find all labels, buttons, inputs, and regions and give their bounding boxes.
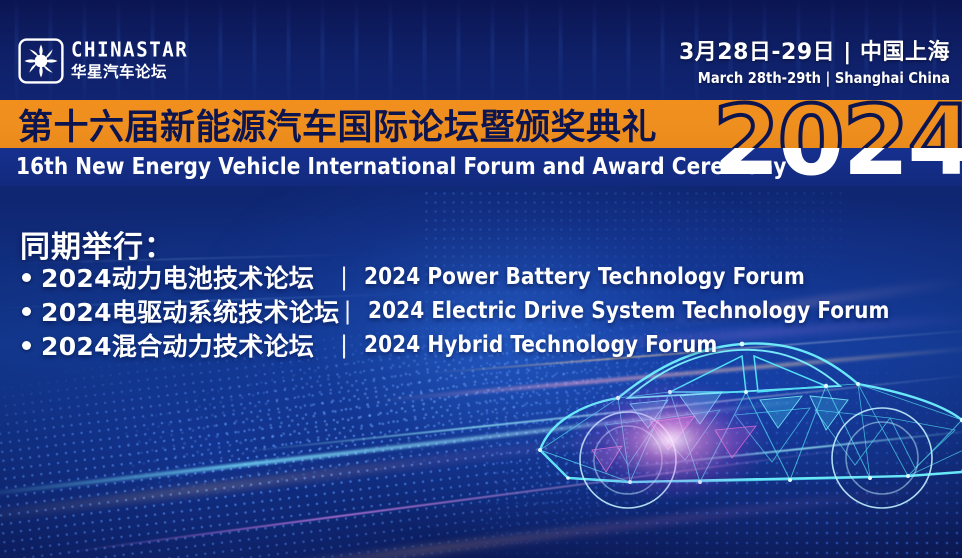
bullet-icon (22, 307, 31, 316)
page-title-cn: 第十六届新能源汽车国际论坛暨颁奖典礼 (18, 101, 657, 147)
event-meta: 3月28日-29日 | 中国上海 March 28th-29th | Shang… (679, 42, 950, 87)
bullet-icon (22, 341, 31, 350)
brand-logo: CHINASTAR 华星汽车论坛 (18, 38, 188, 84)
brand-name-en: CHINASTAR (71, 40, 188, 61)
event-poster: CHINASTAR 华星汽车论坛 3月28日-29日 | 中国上海 March … (0, 0, 962, 558)
forum-name-cn: 2024动力电池技术论坛 (41, 259, 336, 295)
forum-name-en: 2024 Power Battery Technology Forum (364, 264, 805, 290)
concurrent-forum-list: 2024动力电池技术论坛 | 2024 Power Battery Techno… (22, 262, 905, 364)
list-item: 2024混合动力技术论坛 | 2024 Hybrid Technology Fo… (22, 330, 905, 360)
forum-name-cn: 2024混合动力技术论坛 (41, 327, 336, 363)
separator-pipe: | (340, 263, 348, 291)
separator-pipe: | (343, 297, 351, 325)
bullet-icon (22, 273, 31, 282)
list-item: 2024电驱动系统技术论坛 | 2024 Electric Drive Syst… (22, 296, 905, 326)
event-date-location-cn: 3月28日-29日 | 中国上海 (679, 42, 950, 64)
car-headlight-glow (570, 380, 770, 500)
brand-name-cn: 华星汽车论坛 (71, 65, 188, 81)
forum-name-en: 2024 Electric Drive System Technology Fo… (368, 298, 890, 324)
event-date-location-en: March 28th-29th | Shanghai China (695, 71, 950, 87)
chinastar-star-badge-icon (18, 38, 64, 84)
forum-name-cn: 2024电驱动系统技术论坛 (41, 293, 339, 329)
list-item: 2024动力电池技术论坛 | 2024 Power Battery Techno… (22, 262, 905, 292)
forum-name-en: 2024 Hybrid Technology Forum (364, 332, 717, 358)
page-title-en: 16th New Energy Vehicle International Fo… (16, 148, 787, 185)
brand-logo-text: CHINASTAR 华星汽车论坛 (71, 41, 188, 81)
separator-pipe: | (340, 331, 348, 359)
